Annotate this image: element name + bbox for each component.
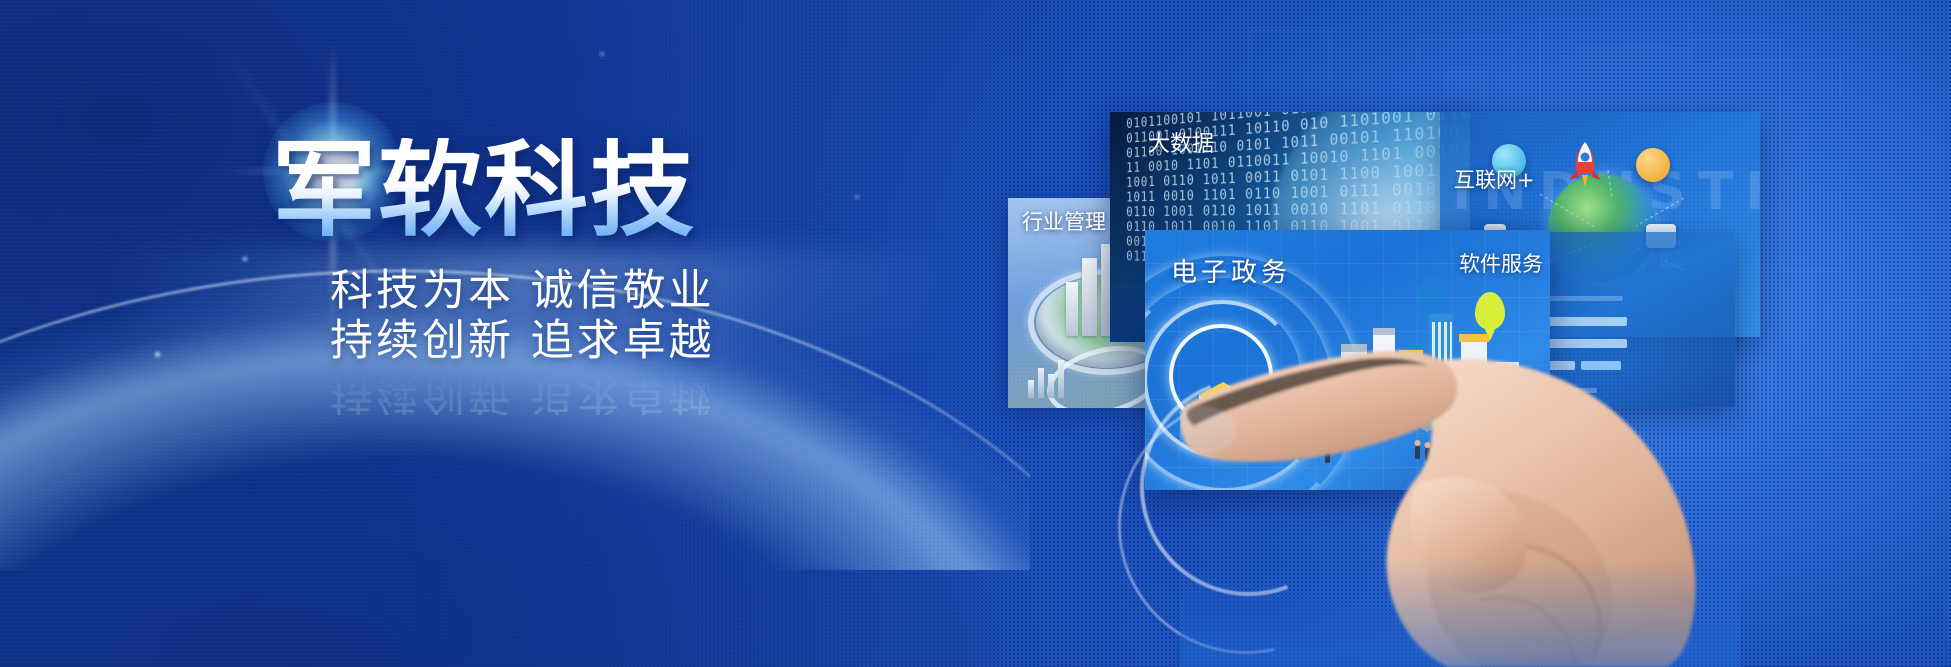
card-software-label: 软件服务 [1459,248,1543,278]
building-shape [1082,258,1097,336]
card-bigdata-label: 大数据 [1148,126,1214,158]
pointing-hand-icon [1180,300,1700,667]
hero-banner: 军软科技 军软科技 科技为本 诚信敬业 持续创新 追求卓越 持续创新 追求卓越 … [0,0,1951,667]
sparkle-icon [243,257,247,261]
sparkle-icon [600,52,604,56]
tagline-reflection: 持续创新 追求卓越 [330,372,715,415]
tagline-line-2: 持续创新 追求卓越 [330,320,715,363]
card-industry-label: 行业管理 [1022,206,1106,236]
building-shape [1066,282,1078,336]
card-egov-label: 电子政务 [1171,252,1291,289]
page-title: 军软科技 [272,138,696,242]
sparkle-icon [855,195,859,199]
rocket-icon [1562,140,1608,188]
sparkle-icon [155,352,160,357]
bar-chart-icon [1028,360,1068,398]
card-internet-label: 互联网+ [1454,164,1535,194]
tagline-line-1: 科技为本 诚信敬业 [330,270,715,313]
cloud-node-icon [1636,148,1670,182]
